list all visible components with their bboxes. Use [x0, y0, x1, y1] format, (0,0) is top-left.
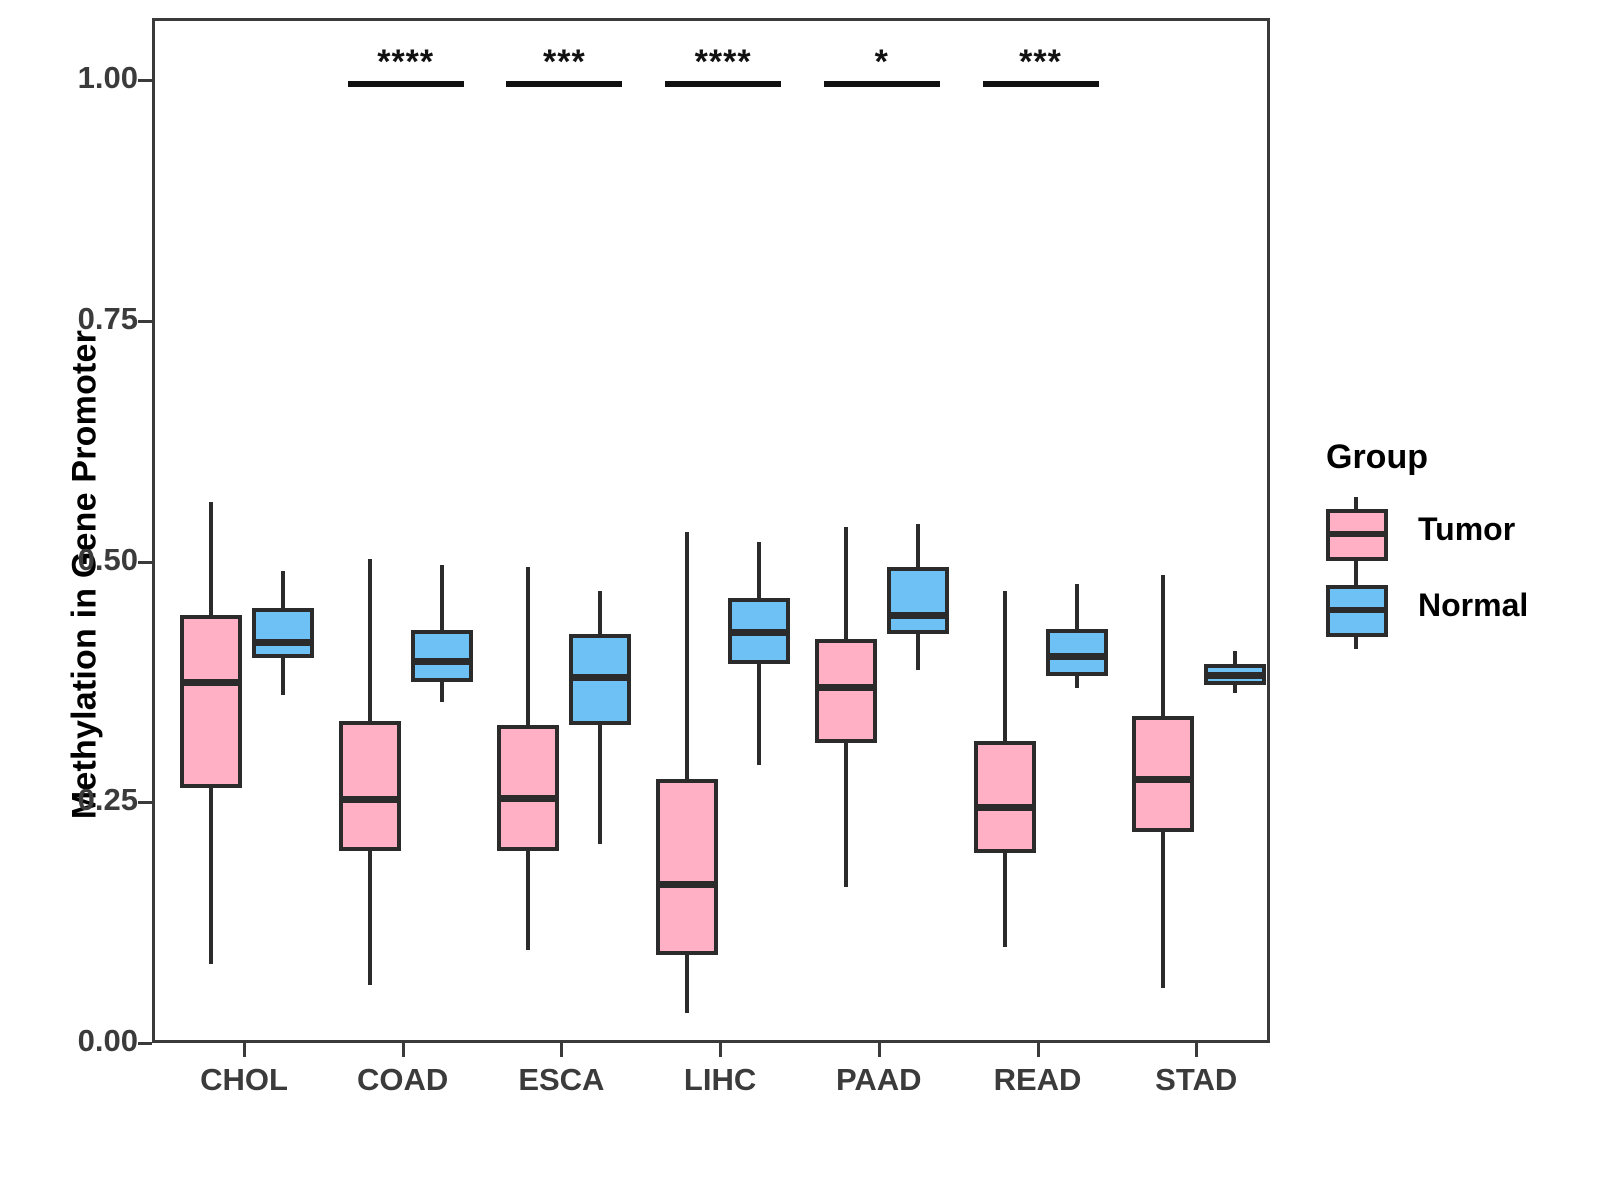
median-line — [728, 629, 790, 636]
significance-bar-lihc — [665, 81, 781, 87]
x-axis-tick-label-stad: STAD — [1116, 1062, 1276, 1098]
x-axis-tick-label-esca: ESCA — [481, 1062, 641, 1098]
whisker-upper — [685, 532, 689, 779]
x-axis-tick-label-read: READ — [958, 1062, 1118, 1098]
whisker-lower — [209, 788, 213, 964]
median-line — [1204, 672, 1266, 679]
y-axis-tick — [138, 1042, 152, 1045]
whisker-upper — [526, 567, 530, 725]
significance-bar-paad — [824, 81, 940, 87]
significance-label-paad: * — [792, 45, 972, 79]
x-axis-tick — [1195, 1043, 1198, 1057]
median-line — [1132, 776, 1194, 783]
y-axis-tick — [138, 79, 152, 82]
whisker-lower — [1075, 676, 1079, 688]
whisker-upper — [1003, 591, 1007, 741]
whisker-lower — [368, 851, 372, 986]
legend-whisker-top — [1354, 573, 1358, 585]
legend-label-tumor: Tumor — [1418, 511, 1515, 548]
box-coad-tumor[interactable] — [339, 721, 401, 851]
legend-whisker-top — [1354, 497, 1358, 509]
median-line — [974, 804, 1036, 811]
legend-whisker-bottom — [1354, 561, 1358, 573]
x-axis-tick-label-paad: PAAD — [799, 1062, 959, 1098]
legend-label-normal: Normal — [1418, 587, 1528, 624]
x-axis-tick-label-lihc: LIHC — [640, 1062, 800, 1098]
x-axis-tick — [878, 1043, 881, 1057]
box-lihc-tumor[interactable] — [656, 779, 718, 955]
legend-title: Group — [1326, 438, 1592, 477]
whisker-lower — [757, 664, 761, 765]
median-line — [569, 674, 631, 681]
significance-bar-coad — [348, 81, 464, 87]
y-axis-tick-label: 0.25 — [8, 782, 138, 818]
whisker-upper — [440, 565, 444, 630]
median-line — [497, 795, 559, 802]
legend-entries: TumorNormal — [1322, 503, 1592, 655]
median-line — [656, 881, 718, 888]
whisker-upper — [281, 571, 285, 608]
whisker-upper — [916, 524, 920, 567]
box-chol-normal[interactable] — [252, 608, 314, 658]
whisker-upper — [598, 591, 602, 634]
whisker-lower — [598, 725, 602, 843]
median-line — [339, 796, 401, 803]
whisker-upper — [757, 542, 761, 598]
chart-root: Methylation in Gene Promoter 0.000.250.5… — [0, 0, 1600, 1200]
median-line — [887, 612, 949, 619]
legend-median-line — [1326, 607, 1388, 613]
significance-bar-read — [983, 81, 1099, 87]
whisker-upper — [209, 502, 213, 615]
y-axis-tick — [138, 801, 152, 804]
y-axis-tick — [138, 320, 152, 323]
median-line — [411, 658, 473, 665]
median-line — [180, 679, 242, 686]
legend-median-line — [1326, 531, 1388, 537]
significance-label-lihc: **** — [633, 45, 813, 79]
significance-label-coad: **** — [316, 45, 496, 79]
x-axis-tick — [243, 1043, 246, 1057]
whisker-upper — [368, 559, 372, 721]
x-axis-tick — [560, 1043, 563, 1057]
box-coad-normal[interactable] — [411, 630, 473, 682]
y-axis-tick — [138, 561, 152, 564]
whisker-lower — [440, 682, 444, 702]
x-axis-tick — [719, 1043, 722, 1057]
x-axis-tick-label-chol: CHOL — [164, 1062, 324, 1098]
box-chol-tumor[interactable] — [180, 615, 242, 788]
whisker-lower — [1003, 853, 1007, 946]
y-axis-tick-label: 0.75 — [8, 301, 138, 337]
significance-label-read: *** — [951, 45, 1131, 79]
legend-entry-normal[interactable]: Normal — [1322, 579, 1592, 655]
x-axis-tick-label-coad: COAD — [323, 1062, 483, 1098]
y-axis-tick-label: 0.50 — [8, 542, 138, 578]
median-line — [815, 684, 877, 691]
whisker-upper — [1075, 584, 1079, 629]
significance-label-esca: *** — [474, 45, 654, 79]
median-line — [252, 639, 314, 646]
y-axis-tick-label: 1.00 — [8, 60, 138, 96]
legend: Group TumorNormal — [1322, 438, 1592, 655]
whisker-upper — [1161, 575, 1165, 716]
y-axis-tick-label: 0.00 — [8, 1023, 138, 1059]
whisker-lower — [916, 634, 920, 671]
box-esca-tumor[interactable] — [497, 725, 559, 851]
box-read-tumor[interactable] — [974, 741, 1036, 854]
box-paad-normal[interactable] — [887, 567, 949, 633]
whisker-upper — [1233, 651, 1237, 664]
plot-panel: *************** — [152, 18, 1270, 1043]
whisker-lower — [685, 955, 689, 1013]
x-axis-tick — [1037, 1043, 1040, 1057]
whisker-lower — [281, 658, 285, 695]
box-stad-tumor[interactable] — [1132, 716, 1194, 833]
whisker-upper — [844, 527, 848, 639]
whisker-lower — [1233, 685, 1237, 693]
median-line — [1046, 653, 1108, 660]
x-axis-tick — [402, 1043, 405, 1057]
significance-bar-esca — [506, 81, 622, 87]
whisker-lower — [1161, 832, 1165, 988]
legend-entry-tumor[interactable]: Tumor — [1322, 503, 1592, 579]
legend-whisker-bottom — [1354, 637, 1358, 649]
whisker-lower — [844, 743, 848, 887]
whisker-lower — [526, 851, 530, 949]
